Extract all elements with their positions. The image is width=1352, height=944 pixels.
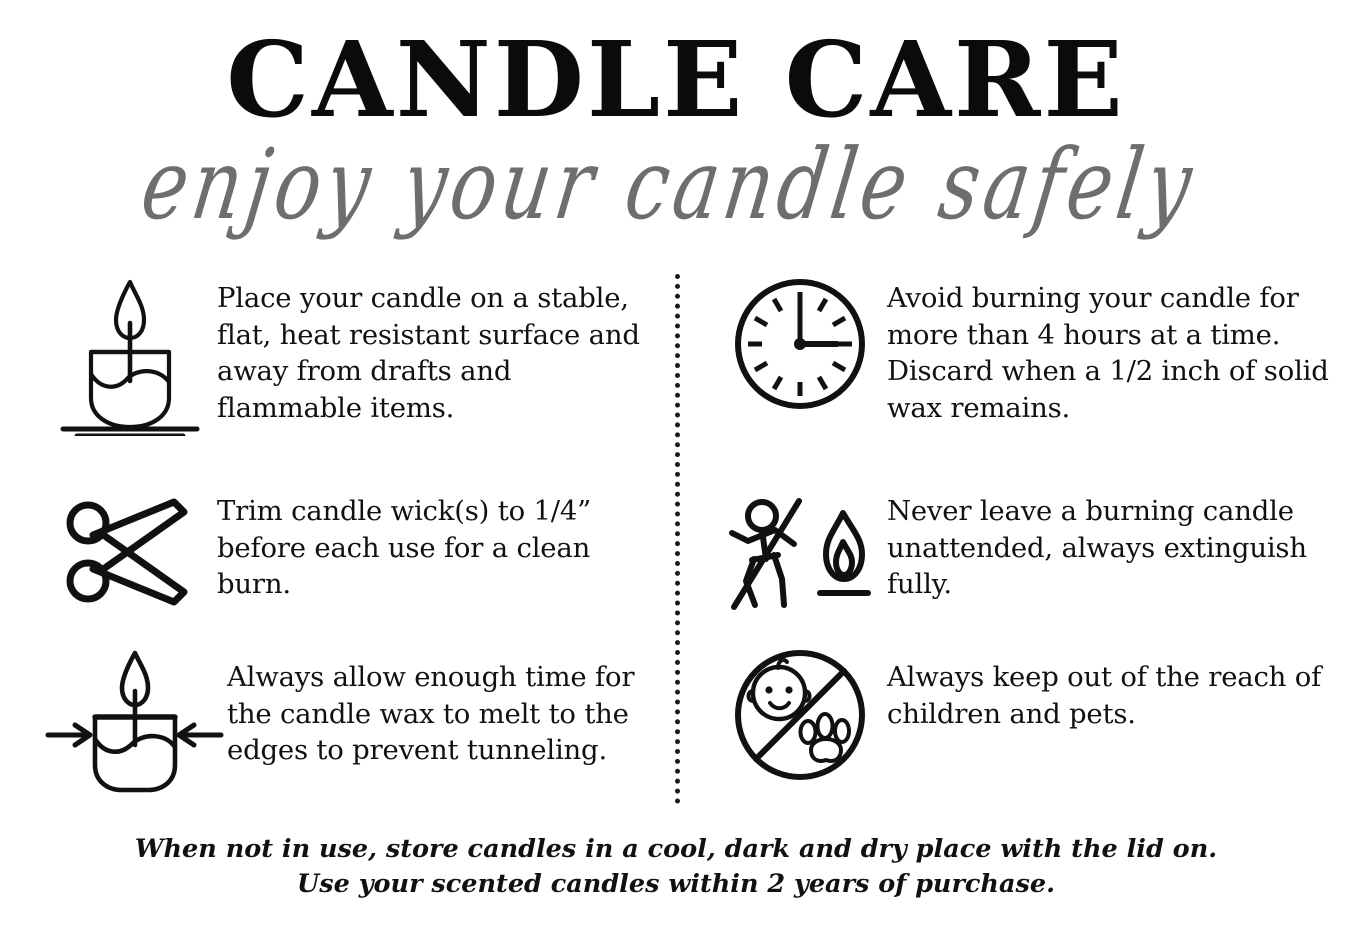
candle-full-melt-pool-icon xyxy=(42,643,227,798)
header: CANDLE CARE enjoy your candle safely xyxy=(0,0,1352,262)
page-subtitle: enjoy your candle safely xyxy=(136,136,1202,233)
tip-item: Place your candle on a stable, flat, hea… xyxy=(42,274,662,449)
tip-text: Never leave a burning candle unattended,… xyxy=(887,483,1332,603)
tip-text: Trim candle wick(s) to 1/4” before each … xyxy=(217,483,662,603)
tip-item: Avoid burning your candle for more than … xyxy=(712,274,1332,449)
no-unattended-flame-icon xyxy=(712,483,887,623)
tips-column-left: Place your candle on a stable, flat, hea… xyxy=(42,268,662,813)
tip-text: Avoid burning your candle for more than … xyxy=(887,274,1332,426)
tip-item: Always allow enough time for the candle … xyxy=(42,643,662,798)
footer-line-2: Use your scented candles within 2 years … xyxy=(0,867,1352,902)
tip-item: Always keep out of the reach of children… xyxy=(712,643,1332,798)
footer-note: When not in use, store candles in a cool… xyxy=(0,832,1352,902)
footer-line-1: When not in use, store candles in a cool… xyxy=(0,832,1352,867)
scissors-icon xyxy=(42,483,217,623)
tip-text: Place your candle on a stable, flat, hea… xyxy=(217,274,662,426)
no-children-pets-icon xyxy=(712,643,887,798)
tips-grid: Place your candle on a stable, flat, hea… xyxy=(0,268,1352,813)
subtitle-container: enjoy your candle safely xyxy=(0,136,1352,246)
tip-text: Always allow enough time for the candle … xyxy=(227,643,662,769)
candle-care-infographic: CANDLE CARE enjoy your candle safely xyxy=(0,0,1352,944)
tip-item: Trim candle wick(s) to 1/4” before each … xyxy=(42,483,662,623)
page-title: CANDLE CARE xyxy=(0,28,1352,132)
tip-item: Never leave a burning candle unattended,… xyxy=(712,483,1332,623)
candle-on-surface-icon xyxy=(42,274,217,449)
tip-text: Always keep out of the reach of children… xyxy=(887,643,1332,732)
tips-column-right: Avoid burning your candle for more than … xyxy=(712,268,1332,813)
clock-icon xyxy=(712,274,887,449)
